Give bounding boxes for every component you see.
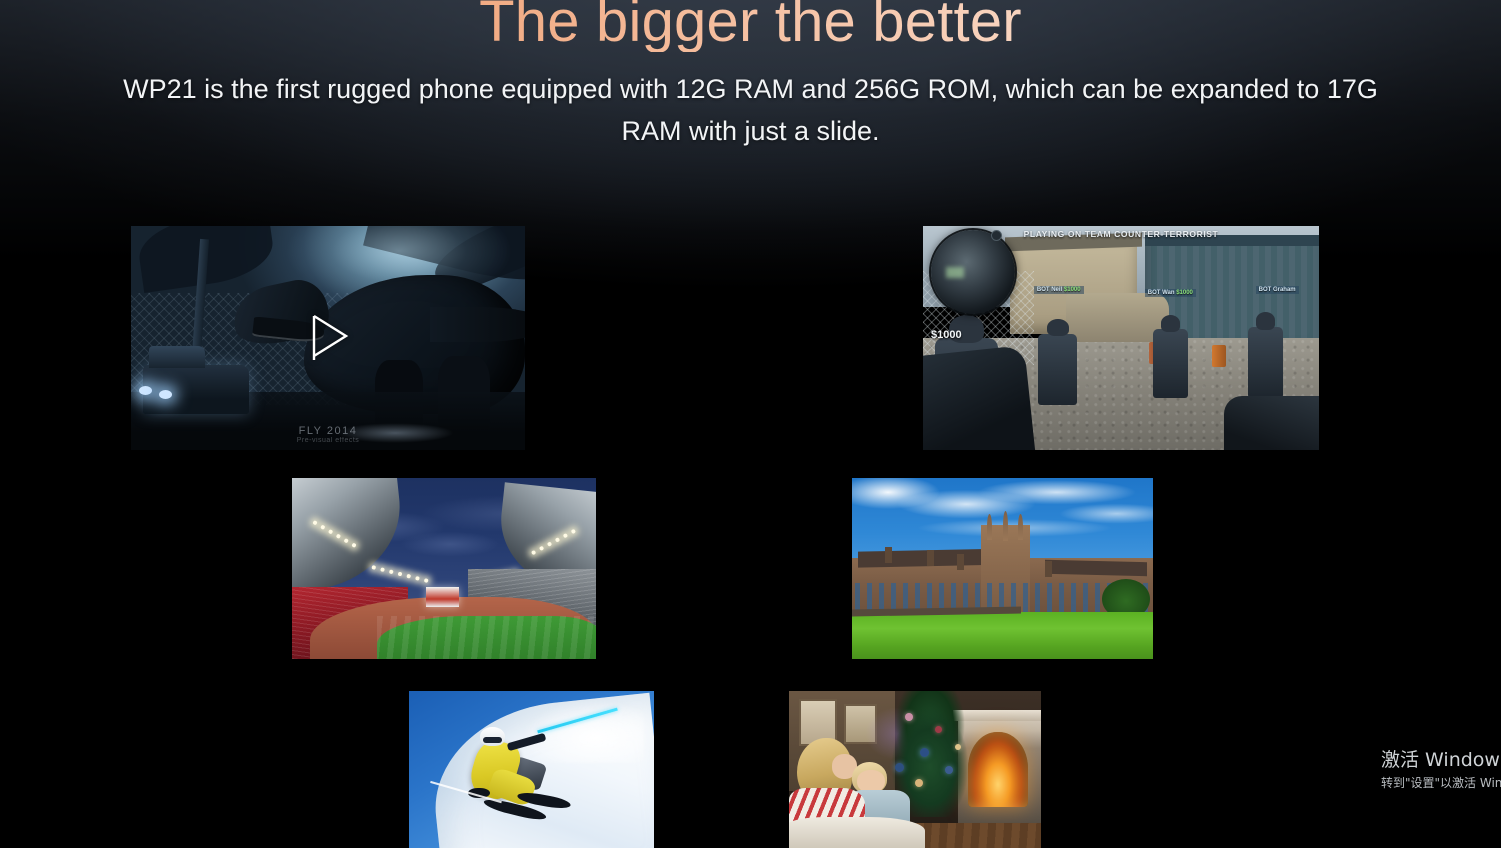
player-nametag: BOT Wan $1000 [1145, 289, 1196, 297]
skier-scene [409, 691, 654, 848]
pickup-truck [143, 365, 249, 414]
play-icon[interactable] [300, 310, 356, 366]
slide-subtitle: WP21 is the first rugged phone equipped … [106, 68, 1396, 152]
media-thumbnail-skier[interactable] [409, 691, 654, 848]
chimney [885, 547, 892, 563]
player-nametag-name: BOT Neil [1037, 287, 1062, 293]
scope-overlay [931, 230, 1015, 314]
video-caption-subtext: Pre-visual effects [131, 437, 525, 444]
media-thumbnail-stadium[interactable] [292, 478, 596, 659]
player-character [1248, 327, 1284, 399]
skier-goggles [483, 737, 503, 743]
player-nametag-money: $1000 [1176, 290, 1193, 296]
tree-ornament [905, 713, 913, 721]
football-pitch [377, 616, 596, 659]
chimney [1045, 561, 1052, 577]
headlight-icon [139, 386, 152, 395]
barrel-icon [1212, 345, 1226, 367]
scoreboard-screen [426, 587, 459, 607]
player-nametag-name: BOT Wan [1148, 290, 1175, 296]
slide-header: The bigger the better WP21 is the first … [0, 0, 1501, 152]
media-thumbnail-university[interactable] [852, 478, 1153, 659]
christmas-scene [789, 691, 1041, 848]
player-nametag: BOT Graham [1256, 286, 1299, 294]
player-nametag: BOT Neil $1000 [1034, 286, 1084, 294]
video-caption-text: FLY 2014 [299, 425, 358, 437]
building-roof-right [1045, 560, 1147, 577]
page-title: The bigger the better [0, 0, 1501, 52]
media-thumbnail-dinosaur-video[interactable]: FLY 2014 Pre-visual effects [131, 226, 525, 450]
player-character [1038, 334, 1078, 406]
media-thumbnail-csgo-gameplay[interactable]: BOT Neil $1000 BOT Wan $1000 BOT Graham … [923, 226, 1319, 450]
green-lawn [852, 612, 1153, 659]
csgo-scene: BOT Neil $1000 BOT Wan $1000 BOT Graham … [923, 226, 1319, 450]
tower-spire [1003, 511, 1008, 541]
tree-ornament [920, 748, 929, 757]
player-nametag-name: BOT Graham [1259, 287, 1296, 293]
fire-icon [968, 732, 1028, 807]
player-character [1153, 329, 1189, 398]
hud-team-status: PLAYING ON TEAM COUNTER-TERRORIST [923, 229, 1319, 239]
sofa [789, 817, 925, 848]
tree-ornament [935, 726, 942, 733]
headlight-icon [159, 390, 172, 399]
chimney [927, 550, 934, 566]
scope-glint [946, 267, 964, 277]
hud-money: $1000 [931, 329, 962, 341]
tree-ornament [895, 763, 904, 772]
video-caption: FLY 2014 Pre-visual effects [131, 425, 525, 444]
university-scene [852, 478, 1153, 659]
tree-ornament [915, 779, 923, 787]
weapon-right-hand [1224, 396, 1319, 450]
weapon-foreground [923, 346, 1035, 450]
player-nametag-money: $1000 [1064, 287, 1081, 293]
media-thumbnail-christmas[interactable] [789, 691, 1041, 848]
tower-spire [1018, 514, 1023, 540]
stadium-scene [292, 478, 596, 659]
trex-tail [430, 307, 525, 343]
chimney [957, 554, 964, 570]
